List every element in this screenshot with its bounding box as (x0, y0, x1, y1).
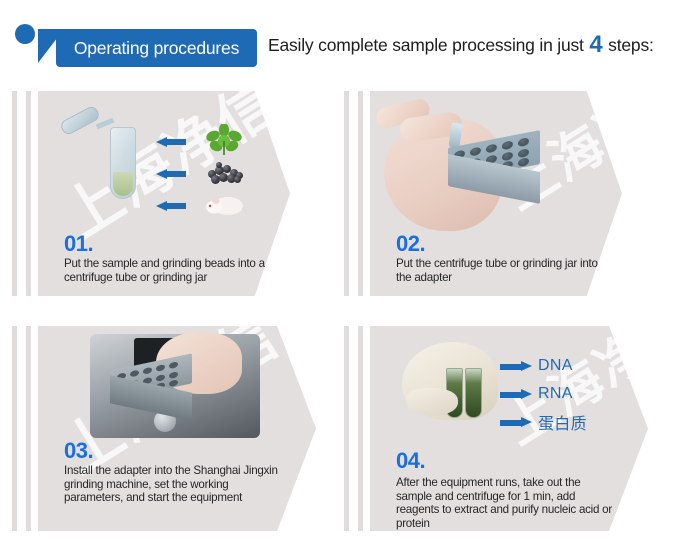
step-panel-body: 上海净信 (38, 326, 316, 531)
step-number: 03. (64, 438, 93, 464)
panel-accent-bar (358, 326, 363, 531)
panel-accent-bar (12, 326, 17, 531)
leaf-specimen-icon (204, 126, 246, 156)
step-description: Put the sample and grinding beads into a… (64, 257, 284, 284)
operating-procedures-infographic: Operating procedures Easily complete sam… (0, 0, 686, 538)
page-title: Easily complete sample processing in jus… (268, 31, 654, 59)
arrow-left-icon (156, 201, 186, 210)
sample-row-leaf (156, 127, 276, 155)
output-row-dna: DNA (500, 352, 630, 380)
arrow-left-icon (156, 169, 186, 178)
step-panel-body: 上海净信 (370, 91, 622, 296)
leaf-icon (204, 124, 244, 156)
badge-label: Operating procedures (74, 38, 239, 59)
panel-accent-bar (344, 91, 349, 296)
output-row-protein: 蛋白质 (500, 408, 630, 436)
output-label: DNA (538, 357, 573, 375)
step-panel-body: 上海净信 (38, 91, 290, 296)
output-label: 蛋白质 (538, 410, 587, 434)
operating-procedures-badge: Operating procedures (56, 29, 257, 67)
tube-liquid (113, 172, 133, 196)
step-description: Install the adapter into the Shanghai Ji… (64, 464, 284, 505)
step-01-illustration (38, 91, 290, 231)
step-panel-02: 上海净信 (344, 91, 674, 296)
panel-accent-bar (12, 91, 17, 296)
tube-cap-icon (59, 104, 101, 136)
step-number: 04. (396, 448, 425, 474)
glove-thumb (406, 388, 458, 416)
arrow-right-icon (500, 417, 532, 427)
panel-accent-bar (358, 91, 363, 296)
step-description: After the equipment runs, take out the s… (396, 476, 616, 530)
beads-cluster (206, 162, 244, 184)
step-count: 4 (588, 31, 603, 58)
arrow-right-icon (500, 389, 532, 399)
step-03-illustration (38, 326, 316, 446)
panel-accent-bar (26, 91, 31, 296)
step-04-illustration: DNA RNA 蛋白质 (370, 326, 648, 456)
subtitle-text-before: Easily complete sample processing in jus… (268, 35, 588, 55)
step-panel-body: 上海净信 DNA RNA 蛋白质 (370, 326, 648, 531)
header-dot-icon (15, 24, 35, 44)
output-label: RNA (538, 385, 573, 403)
mouse-icon (204, 192, 246, 218)
output-label-list: DNA RNA 蛋白质 (500, 352, 630, 436)
sample-vial-icon (465, 368, 482, 418)
subtitle-text-after: steps: (604, 35, 654, 55)
step-02-illustration (370, 91, 622, 241)
panel-accent-bar (26, 326, 31, 531)
arrow-right-icon (500, 361, 532, 371)
panel-accent-bar (344, 326, 349, 531)
step-panel-03: 上海净信 (12, 326, 342, 531)
step-number: 02. (396, 231, 425, 257)
step-panel-04: 上海净信 DNA RNA 蛋白质 (344, 326, 674, 531)
header: Operating procedures Easily complete sam… (0, 0, 686, 86)
output-row-rna: RNA (500, 380, 630, 408)
centrifuge-tube-icon (110, 127, 136, 199)
sample-row-beads (156, 159, 276, 187)
mouse-specimen-icon (204, 190, 246, 220)
step-panel-01: 上海净信 (12, 91, 342, 296)
step-number: 01. (64, 231, 93, 257)
sample-row-mouse (156, 191, 276, 219)
step-description: Put the centrifuge tube or grinding jar … (396, 257, 616, 284)
arrow-left-icon (156, 137, 186, 146)
grinding-beads-icon (204, 158, 246, 188)
